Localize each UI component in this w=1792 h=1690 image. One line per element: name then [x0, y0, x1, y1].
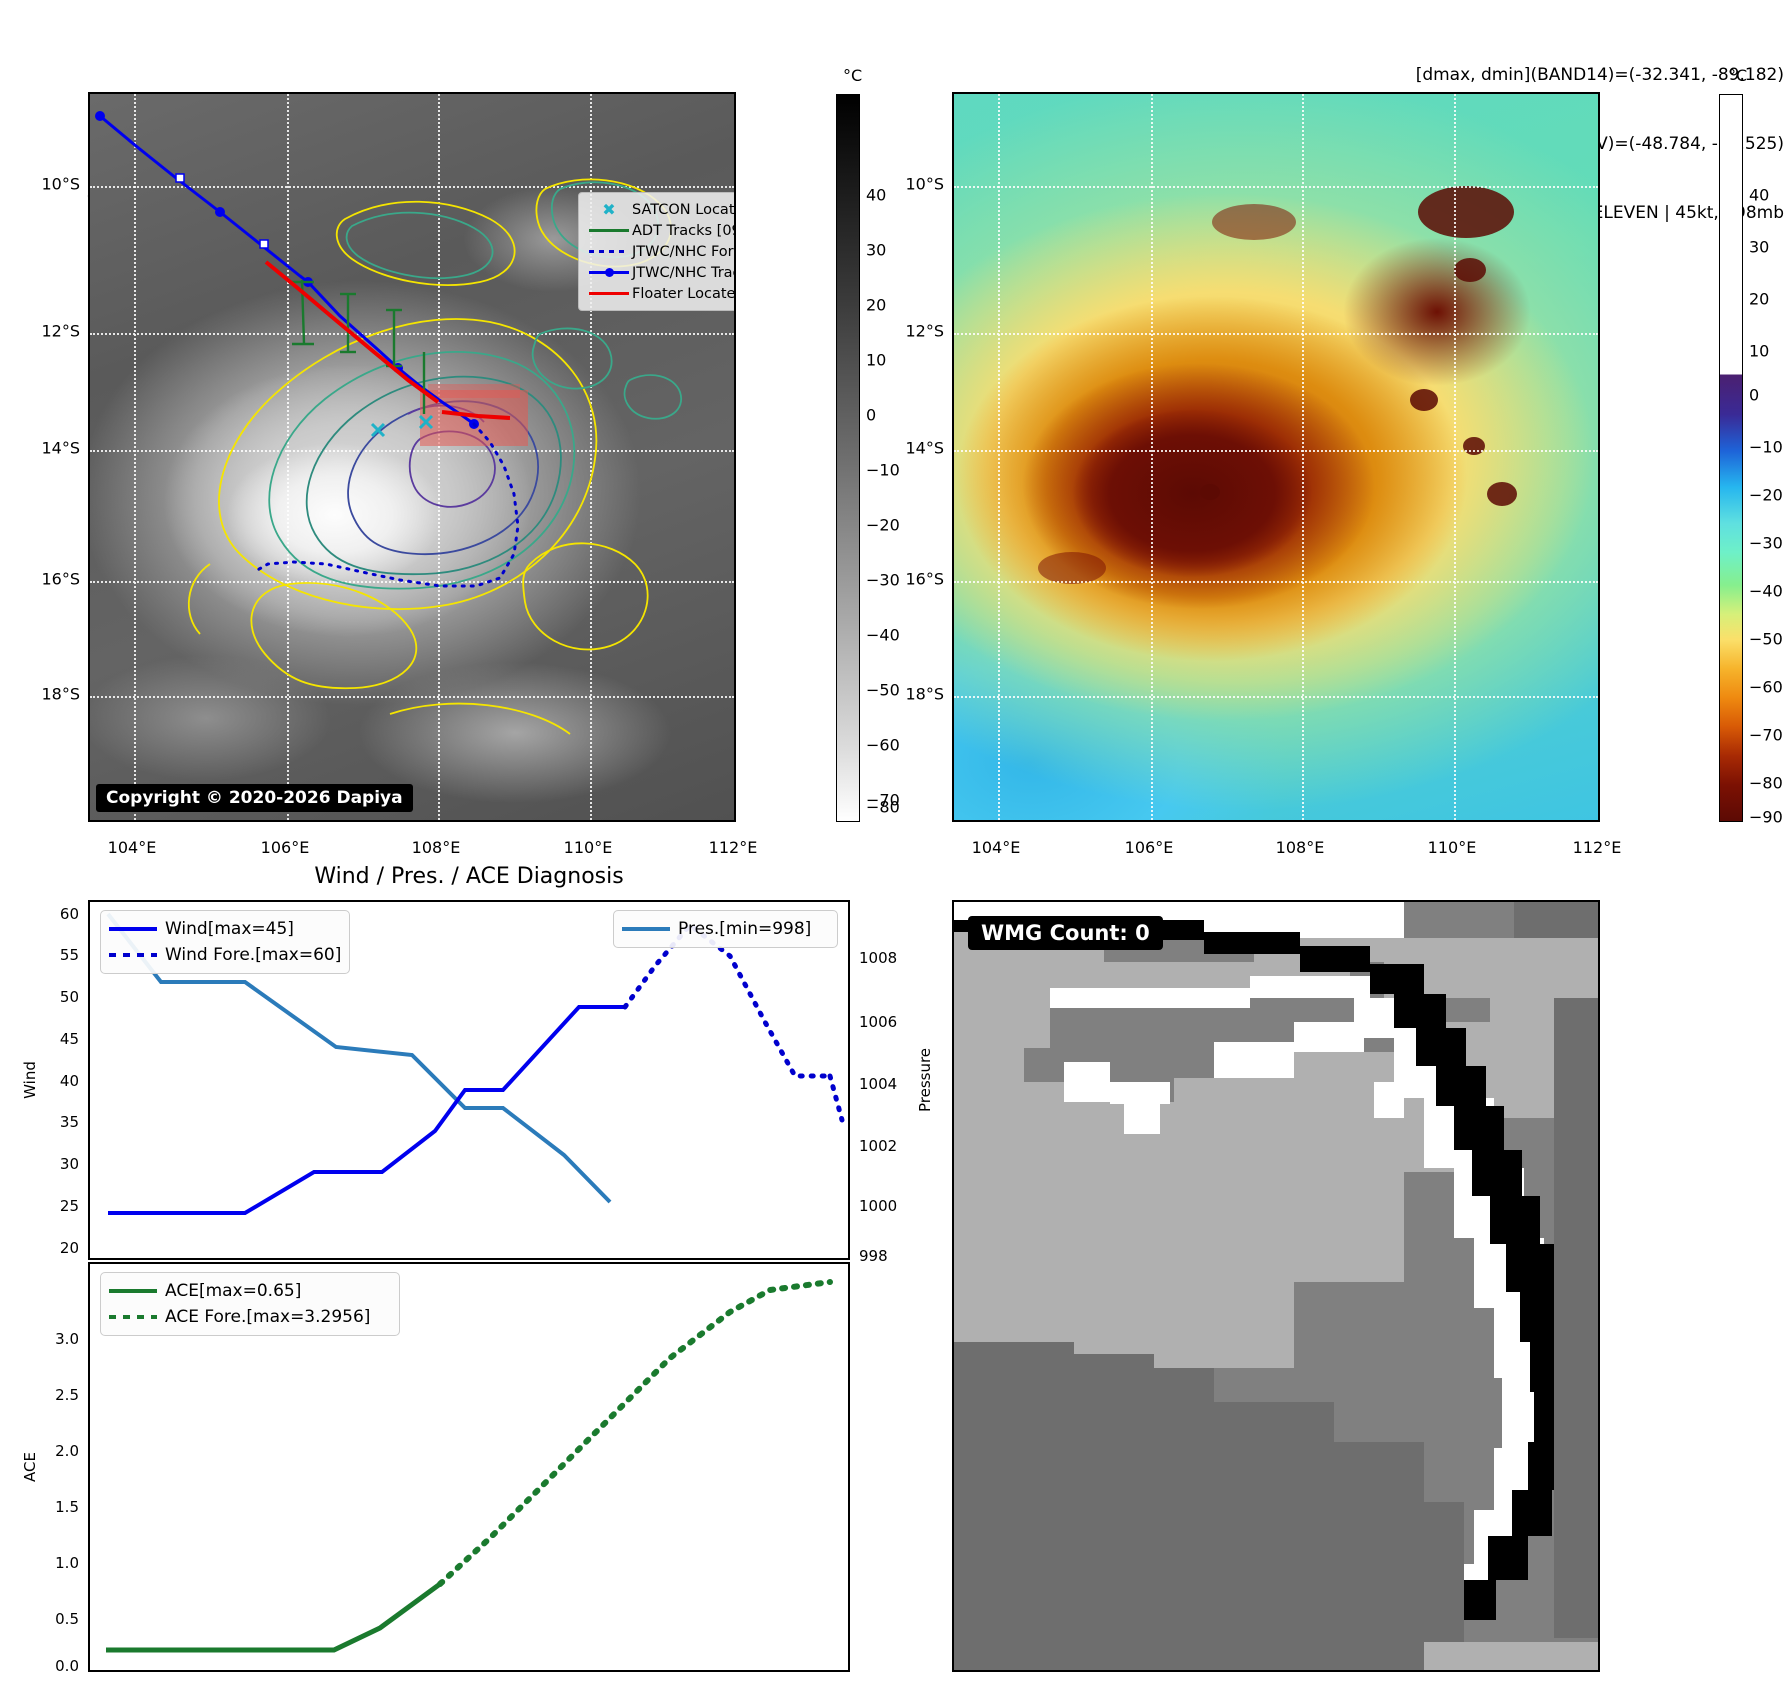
awv-lon-tick: 104°E [972, 838, 1021, 857]
line-with-dot-icon [586, 271, 632, 274]
legend-label-ace: ACE[max=0.65] [165, 1281, 301, 1301]
legend-label-satcon: SATCON Locations [0910Z 43 998] [632, 202, 736, 218]
pressure-chart-legend: Pres.[min=998] [613, 910, 838, 948]
ir-lat-tick: 10°S [41, 175, 80, 194]
ir-lon-tick: 110°E [564, 838, 613, 857]
pressure-y-tick: 1006 [850, 1013, 897, 1031]
ir-lon-axis: 104°E 106°E 108°E 110°E 112°E [88, 838, 736, 862]
awv-lon-axis: 104°E 106°E 108°E 110°E 112°E [952, 838, 1600, 862]
awv-gridline-lon-104e [998, 94, 1000, 820]
awv-cb-tick: −10 [1742, 438, 1783, 457]
ir-lon-tick: 106°E [261, 838, 310, 857]
awv-gridline-lon-106e [1151, 94, 1153, 820]
legend-item-adt: ADT Tracks [0940Z 47.0 999.6] [586, 220, 736, 241]
solid-line-icon [109, 1289, 165, 1293]
legend-label-pressure: Pres.[min=998] [678, 919, 811, 939]
ir-lat-tick: 12°S [41, 322, 80, 341]
legend-label-ace-forecast: ACE Fore.[max=3.2956] [165, 1307, 370, 1327]
legend-label-wind: Wind[max=45] [165, 919, 294, 939]
ir-gridline-lon-112e [735, 94, 736, 820]
awv-lon-tick: 112°E [1573, 838, 1622, 857]
awv-cb-tick: 30 [1742, 238, 1769, 257]
wind-y-tick: 60 [60, 905, 88, 923]
copyright-notice: Copyright © 2020-2026 Dapiya [96, 784, 413, 812]
wmg-panel[interactable]: WMG Count: 0 [952, 900, 1600, 1672]
ir-map-legend: ✖ SATCON Locations [0910Z 43 998] ADT Tr… [578, 192, 736, 311]
awv-lon-tick: 106°E [1125, 838, 1174, 857]
awv-cb-tick: −20 [1742, 486, 1783, 505]
pressure-y-tick: 998 [850, 1247, 888, 1265]
awv-gridline-lon-112e [1599, 94, 1600, 820]
wind-y-tick: 25 [60, 1197, 88, 1215]
legend-item-wind-forecast: Wind Fore.[max=60] [109, 942, 341, 968]
legend-item-tracks: JTWC/NHC Tracks [01/0600Z] [586, 262, 736, 283]
legend-item-ace-forecast: ACE Fore.[max=3.2956] [109, 1304, 391, 1330]
legend-item-ace: ACE[max=0.65] [109, 1278, 391, 1304]
legend-label-tracks: JTWC/NHC Tracks [01/0600Z] [632, 265, 736, 281]
awv-lat-tick: 12°S [905, 322, 944, 341]
solid-line-icon [109, 927, 165, 931]
ir-lat-tick: 16°S [41, 570, 80, 589]
awv-gridline-lat-16s [954, 581, 1598, 583]
awv-lon-tick: 110°E [1428, 838, 1477, 857]
wind-y-tick: 45 [60, 1030, 88, 1048]
awv-texture-overlay [954, 94, 1600, 822]
wind-axis-title: Wind [21, 1061, 39, 1099]
awv-gridline-lat-12s [954, 333, 1598, 335]
legend-item-wind: Wind[max=45] [109, 916, 341, 942]
awv-gridline-lat-14s [954, 450, 1598, 452]
awv-cb-tick: −40 [1742, 582, 1783, 601]
dashboard-root: GEO-KOMPSAT-2A BAND14-DIAS FLOATER Time:… [0, 0, 1792, 1690]
series-ace-forecast [440, 1282, 830, 1584]
awv-cb-tick: −70 [1742, 726, 1783, 745]
pressure-y-tick: 1004 [850, 1075, 897, 1093]
legend-item-forecast: JTWC/NHC Forecast [01/0600Z] [586, 241, 736, 262]
wmg-count-badge: WMG Count: 0 [968, 916, 1163, 950]
dotted-line-icon [109, 1315, 165, 1319]
pressure-y-tick: 1000 [850, 1197, 897, 1215]
ace-y-tick: 1.5 [55, 1498, 88, 1516]
awv-satellite-map[interactable] [952, 92, 1600, 822]
ace-y-tick: 2.0 [55, 1442, 88, 1460]
wind-y-tick: 50 [60, 988, 88, 1006]
awv-lat-tick: 14°S [905, 439, 944, 458]
ace-y-tick: 0.5 [55, 1610, 88, 1628]
awv-cb-tick: −30 [1742, 534, 1783, 553]
legend-item-pressure: Pres.[min=998] [622, 916, 829, 942]
ir-satellite-map[interactable]: ✖ SATCON Locations [0910Z 43 998] ADT Tr… [88, 92, 736, 822]
wind-chart-legend: Wind[max=45] Wind Fore.[max=60] [100, 910, 350, 974]
awv-lat-tick: 18°S [905, 685, 944, 704]
solid-line-icon [622, 927, 678, 931]
ir-lat-axis: 10°S 12°S 14°S 16°S 18°S [0, 92, 80, 822]
legend-item-floater: Floater Locater [586, 283, 736, 304]
awv-cb-tick: 40 [1742, 186, 1769, 205]
legend-label-forecast: JTWC/NHC Forecast [01/0600Z] [632, 244, 736, 260]
solid-line-icon [586, 229, 632, 232]
awv-colorbar-unit: °C [1728, 66, 1747, 85]
awv-gridline-lon-108e [1302, 94, 1304, 820]
wind-y-tick: 35 [60, 1113, 88, 1131]
x-marker-icon: ✖ [586, 202, 632, 218]
pressure-axis-title: Pressure [916, 1048, 934, 1112]
ace-y-tick: 2.5 [55, 1386, 88, 1404]
legend-label-adt: ADT Tracks [0940Z 47.0 999.6] [632, 223, 736, 239]
ace-chart[interactable]: ACE[max=0.65] ACE Fore.[max=3.2956] [88, 1262, 850, 1672]
legend-label-floater: Floater Locater [632, 286, 736, 302]
awv-cb-tick: 20 [1742, 290, 1769, 309]
ir-lon-tick: 112°E [709, 838, 758, 857]
awv-lat-tick: 16°S [905, 570, 944, 589]
wind-y-tick: 30 [60, 1155, 88, 1173]
wind-y-tick: 20 [60, 1239, 88, 1257]
wind-y-tick: 40 [60, 1072, 88, 1090]
pressure-y-tick: 1002 [850, 1137, 897, 1155]
awv-lat-tick: 10°S [905, 175, 944, 194]
series-ace [106, 1584, 440, 1650]
awv-lon-tick: 108°E [1276, 838, 1325, 857]
series-wind [108, 1007, 625, 1213]
ir-lon-tick: 104°E [108, 838, 157, 857]
awv-cb-tick: −90 [1742, 808, 1783, 827]
ace-y-tick: 3.0 [55, 1330, 88, 1348]
wind-pressure-chart[interactable]: Wind[max=45] Wind Fore.[max=60] Pres.[mi… [88, 900, 850, 1260]
awv-cb-tick: −80 [1742, 774, 1783, 793]
awv-gridline-lat-18s [954, 696, 1598, 698]
ir-lat-tick: 18°S [41, 685, 80, 704]
pressure-y-tick: 1008 [850, 949, 897, 967]
ir-colorbar: 40 30 20 10 0 −10 −20 −30 −40 −50 −60 −7… [836, 94, 860, 822]
ir-lon-tick: 108°E [412, 838, 461, 857]
solid-line-icon [586, 292, 632, 295]
ace-y-tick: 0.0 [55, 1657, 88, 1675]
wind-y-tick: 55 [60, 946, 88, 964]
ir-colorbar-unit: °C [843, 66, 862, 85]
ace-chart-legend: ACE[max=0.65] ACE Fore.[max=3.2956] [100, 1272, 400, 1336]
awv-cb-tick: −60 [1742, 678, 1783, 697]
awv-cb-tick: −50 [1742, 630, 1783, 649]
awv-cb-tick: 10 [1742, 342, 1769, 361]
dotted-line-icon [109, 953, 165, 957]
awv-gridline-lat-10s [954, 186, 1598, 188]
awv-cb-tick: 0 [1742, 386, 1759, 405]
awv-colorbar: 40 30 20 10 0 −10 −20 −30 −40 −50 −60 −7… [1719, 94, 1743, 822]
dotted-line-icon [586, 250, 632, 253]
awv-gridline-lon-110e [1454, 94, 1456, 820]
ace-y-tick: 1.0 [55, 1554, 88, 1572]
ace-axis-title: ACE [21, 1452, 39, 1482]
awv-lat-axis: 10°S 12°S 14°S 16°S 18°S [864, 92, 944, 822]
series-wind-forecast-tail [830, 1076, 842, 1120]
ir-lat-tick: 14°S [41, 439, 80, 458]
diagnosis-chart-title: Wind / Pres. / ACE Diagnosis [88, 864, 850, 889]
legend-item-satcon: ✖ SATCON Locations [0910Z 43 998] [586, 199, 736, 220]
wmg-raster [954, 902, 1598, 1670]
legend-label-wind-forecast: Wind Fore.[max=60] [165, 945, 341, 965]
